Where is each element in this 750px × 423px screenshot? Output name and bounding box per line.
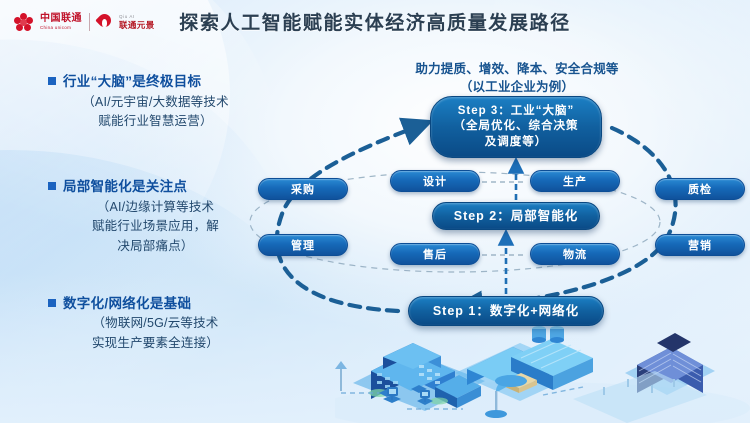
- node-caigou[interactable]: 采购: [258, 178, 348, 200]
- node-wuliu[interactable]: 物流: [530, 243, 620, 265]
- key-points-list: 行业“大脑”是终极目标 （AI/元宇宙/大数据等技术 赋能行业智慧运营） 局部智…: [48, 72, 263, 375]
- step-3-line2: （全局优化、综合决策: [454, 119, 579, 135]
- key-point-detail-line: 赋能行业智慧运营）: [48, 112, 263, 131]
- key-point-detail-line: 决局部痛点）: [48, 237, 263, 256]
- bullet-square-icon: [48, 299, 56, 307]
- maturity-path-left-arrow: [277, 127, 416, 311]
- step-3-line1: Step 3：工业“大脑”: [458, 104, 575, 120]
- key-point-heading: 局部智能化是关注点: [63, 177, 187, 197]
- key-point-detail-line: 实现生产要素全连接）: [48, 334, 263, 353]
- isometric-smart-factory-illustration: [335, 313, 750, 423]
- key-point-detail-line: （物联网/5G/云等技术: [48, 314, 263, 333]
- diagram-subheading-line1: 助力提质、增效、降本、安全合规等: [352, 60, 682, 78]
- antenna-pole-icon: [335, 361, 347, 391]
- diagram-subheading: 助力提质、增效、降本、安全合规等 （以工业企业为例）: [352, 60, 682, 96]
- key-point-heading: 行业“大脑”是终极目标: [63, 72, 201, 92]
- step-2-card[interactable]: Step 2：局部智能化: [432, 202, 600, 230]
- node-shengchan[interactable]: 生产: [530, 170, 620, 192]
- node-shouhou[interactable]: 售后: [390, 243, 480, 265]
- key-point-item-2: 局部智能化是关注点 （AI/边缘计算等技术 赋能行业场景应用，解 决局部痛点）: [48, 177, 263, 256]
- step-3-card[interactable]: Step 3：工业“大脑” （全局优化、综合决策 及调度等）: [430, 96, 602, 158]
- key-point-heading-row: 行业“大脑”是终极目标: [48, 72, 263, 92]
- slide-canvas: 中国联通 China unicom Qiu AI 联通元景 探索人工智能赋能实体…: [0, 0, 750, 423]
- bullet-square-icon: [48, 182, 56, 190]
- key-point-detail-line: （AI/边缘计算等技术: [48, 198, 263, 217]
- key-point-detail-line: （AI/元宇宙/大数据等技术: [48, 93, 263, 112]
- step-3-line3: 及调度等）: [485, 135, 548, 151]
- key-point-heading-row: 数字化/网络化是基础: [48, 294, 263, 314]
- bullet-square-icon: [48, 77, 56, 85]
- node-zhijian[interactable]: 质检: [655, 178, 745, 200]
- key-point-detail-line: 赋能行业场景应用，解: [48, 217, 263, 236]
- node-yingxiao[interactable]: 营销: [655, 234, 745, 256]
- key-point-item-1: 行业“大脑”是终极目标 （AI/元宇宙/大数据等技术 赋能行业智慧运营）: [48, 72, 263, 131]
- diagram-subheading-line2: （以工业企业为例）: [352, 78, 682, 96]
- step-1-card[interactable]: Step 1：数字化+网络化: [408, 296, 604, 326]
- node-sheji[interactable]: 设计: [390, 170, 480, 192]
- key-point-heading: 数字化/网络化是基础: [63, 294, 191, 314]
- page-title: 探索人工智能赋能实体经济高质量发展路径: [0, 8, 750, 35]
- header-bar: 中国联通 China unicom Qiu AI 联通元景 探索人工智能赋能实体…: [0, 0, 750, 44]
- key-point-item-3: 数字化/网络化是基础 （物联网/5G/云等技术 实现生产要素全连接）: [48, 294, 263, 353]
- node-guanli[interactable]: 管理: [258, 234, 348, 256]
- key-point-heading-row: 局部智能化是关注点: [48, 177, 263, 197]
